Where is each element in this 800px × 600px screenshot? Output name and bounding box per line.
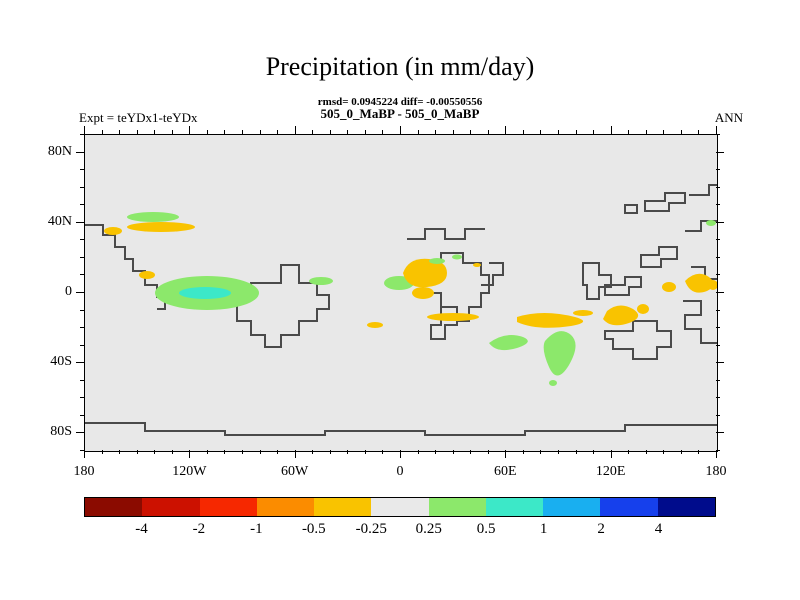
x-tick-minor [523, 450, 524, 454]
x-tick-minor [558, 450, 559, 454]
y-tick-minor [80, 310, 84, 311]
y-axis-label-2: 0 [20, 284, 72, 300]
x-tick-minor [277, 450, 278, 454]
y-tick-minor-right [716, 169, 720, 170]
colorbar-tick-label-6: 0.5 [477, 521, 496, 538]
x-tick-minor-top [523, 130, 524, 134]
colorbar-swatches [84, 497, 716, 517]
x-tick-minor [207, 450, 208, 454]
y-tick-minor [80, 187, 84, 188]
x-tick-minor [172, 450, 173, 454]
y-tick-minor-right [716, 134, 720, 135]
y-tick-minor-right [716, 432, 724, 433]
y-tick-minor-right [716, 187, 720, 188]
x-tick-minor-top [453, 130, 454, 134]
y-tick-minor-right [716, 327, 720, 328]
y-tick-minor-right [716, 257, 720, 258]
case-annotation: 505_0_MaBP - 505_0_MaBP [250, 106, 550, 122]
colorbar-tick-label-7: 1 [540, 521, 548, 538]
x-tick-minor-top [154, 130, 155, 134]
x-tick-minor [400, 450, 401, 458]
y-tick-minor [76, 222, 84, 223]
colorbar-tick-label-0: -4 [135, 521, 148, 538]
x-tick-minor-top [330, 130, 331, 134]
y-tick-minor-right [716, 362, 724, 363]
colorbar-tick-label-4: -0.25 [356, 521, 387, 538]
colorbar-segment-3 [257, 498, 314, 516]
y-tick-minor-right [716, 310, 720, 311]
x-tick-minor-top [382, 130, 383, 134]
x-tick-minor [154, 450, 155, 454]
y-axis-label-0: 80N [20, 144, 72, 160]
x-tick-minor-top [698, 130, 699, 134]
y-tick-minor-right [716, 397, 720, 398]
x-tick-minor [102, 450, 103, 454]
x-tick-minor-top [365, 130, 366, 134]
colorbar-segment-7 [486, 498, 543, 516]
x-tick-minor [224, 450, 225, 454]
colorbar-segment-10 [658, 498, 715, 516]
x-tick-minor-top [295, 126, 296, 134]
x-tick-minor-top [470, 130, 471, 134]
y-tick-minor [80, 380, 84, 381]
x-tick-minor-top [611, 126, 612, 134]
x-tick-minor-top [628, 130, 629, 134]
anomaly-patches [104, 212, 717, 386]
x-axis-label-0: 180 [74, 464, 95, 480]
x-tick-minor [453, 450, 454, 454]
x-tick-minor-top [418, 130, 419, 134]
colorbar-segment-1 [142, 498, 199, 516]
x-tick-minor-top [558, 130, 559, 134]
x-tick-minor [260, 450, 261, 454]
y-tick-minor-right [716, 222, 724, 223]
x-tick-minor-top [663, 130, 664, 134]
colorbar-segment-5 [371, 498, 428, 516]
x-tick-minor-top [347, 130, 348, 134]
x-tick-minor [312, 450, 313, 454]
y-tick-minor [80, 397, 84, 398]
x-axis-label-2: 60W [281, 464, 308, 480]
colorbar-segment-4 [314, 498, 371, 516]
colorbar-tick-label-1: -2 [193, 521, 206, 538]
x-tick-minor-top [207, 130, 208, 134]
x-tick-minor [505, 450, 506, 458]
x-tick-minor [488, 450, 489, 454]
colorbar-tick-label-2: -1 [250, 521, 263, 538]
x-tick-minor [365, 450, 366, 454]
y-tick-minor-right [716, 292, 724, 293]
x-axis-label-4: 60E [494, 464, 517, 480]
map-canvas [85, 135, 717, 451]
y-axis-label-1: 40N [20, 214, 72, 230]
x-tick-minor-top [172, 130, 173, 134]
x-tick-minor-top [505, 126, 506, 134]
y-tick-minor [80, 239, 84, 240]
y-tick-minor-right [716, 415, 720, 416]
y-axis-label-3: 40S [20, 354, 72, 370]
x-tick-minor-top [84, 126, 85, 134]
x-tick-minor-top [260, 130, 261, 134]
y-tick-minor [76, 362, 84, 363]
x-tick-minor [681, 450, 682, 454]
y-tick-minor [80, 327, 84, 328]
y-tick-minor-right [716, 239, 720, 240]
y-tick-minor-right [716, 274, 720, 275]
x-tick-minor [698, 450, 699, 454]
x-tick-minor [576, 450, 577, 454]
y-tick-minor [80, 345, 84, 346]
y-tick-minor [76, 152, 84, 153]
x-tick-minor [84, 450, 85, 458]
x-tick-minor [137, 450, 138, 454]
x-tick-minor [716, 450, 717, 458]
x-tick-minor-top [224, 130, 225, 134]
x-tick-minor [418, 450, 419, 454]
x-tick-minor [611, 450, 612, 458]
colorbar-segment-2 [200, 498, 257, 516]
x-tick-minor-top [242, 130, 243, 134]
x-tick-minor-top [681, 130, 682, 134]
colorbar-segment-0 [85, 498, 142, 516]
x-tick-minor-top [593, 130, 594, 134]
y-axis-label-4: 80S [20, 424, 72, 440]
x-tick-minor-top [488, 130, 489, 134]
x-tick-minor-top [716, 126, 717, 134]
x-tick-minor [628, 450, 629, 454]
y-tick-minor [76, 432, 84, 433]
x-tick-minor-top [137, 130, 138, 134]
y-tick-minor-right [716, 152, 724, 153]
y-tick-minor [80, 274, 84, 275]
x-tick-minor-top [540, 130, 541, 134]
y-tick-minor [80, 204, 84, 205]
x-tick-minor [663, 450, 664, 454]
x-tick-minor-top [189, 126, 190, 134]
x-tick-minor [470, 450, 471, 454]
x-tick-minor-top [312, 130, 313, 134]
x-tick-minor-top [576, 130, 577, 134]
x-tick-minor [347, 450, 348, 454]
x-tick-minor [646, 450, 647, 454]
x-tick-minor [330, 450, 331, 454]
x-axis-label-1: 120W [172, 464, 206, 480]
y-tick-minor-right [716, 450, 720, 451]
colorbar-segment-8 [543, 498, 600, 516]
colorbar: -4-2-1-0.5-0.250.250.5124 [84, 497, 716, 517]
y-tick-minor-right [716, 204, 720, 205]
x-tick-minor [295, 450, 296, 458]
colorbar-tick-label-5: 0.25 [416, 521, 442, 538]
x-tick-minor [540, 450, 541, 454]
y-tick-minor [80, 134, 84, 135]
x-axis-label-6: 180 [706, 464, 727, 480]
colorbar-segment-9 [600, 498, 657, 516]
season-label: ANN [715, 110, 743, 126]
map-plot-area [84, 134, 718, 452]
y-tick-minor [80, 450, 84, 451]
x-tick-minor [119, 450, 120, 454]
y-tick-minor [80, 169, 84, 170]
x-tick-minor [593, 450, 594, 454]
y-tick-minor [80, 415, 84, 416]
x-tick-minor-top [400, 126, 401, 134]
y-tick-minor [76, 292, 84, 293]
y-tick-minor-right [716, 345, 720, 346]
page-title: Precipitation (in mm/day) [0, 52, 800, 82]
x-tick-minor [242, 450, 243, 454]
experiment-label: Expt = teYDx1-teYDx [79, 110, 198, 126]
x-tick-minor [382, 450, 383, 454]
colorbar-tick-label-9: 4 [655, 521, 663, 538]
x-axis-label-5: 120E [596, 464, 626, 480]
x-tick-minor-top [435, 130, 436, 134]
x-tick-minor-top [646, 130, 647, 134]
x-tick-minor-top [119, 130, 120, 134]
x-tick-minor-top [277, 130, 278, 134]
colorbar-segment-6 [429, 498, 486, 516]
y-tick-minor [80, 257, 84, 258]
x-tick-minor [435, 450, 436, 454]
x-tick-minor-top [102, 130, 103, 134]
colorbar-tick-label-8: 2 [597, 521, 605, 538]
y-tick-minor-right [716, 380, 720, 381]
x-axis-label-3: 0 [397, 464, 404, 480]
colorbar-tick-label-3: -0.5 [302, 521, 326, 538]
x-tick-minor [189, 450, 190, 458]
